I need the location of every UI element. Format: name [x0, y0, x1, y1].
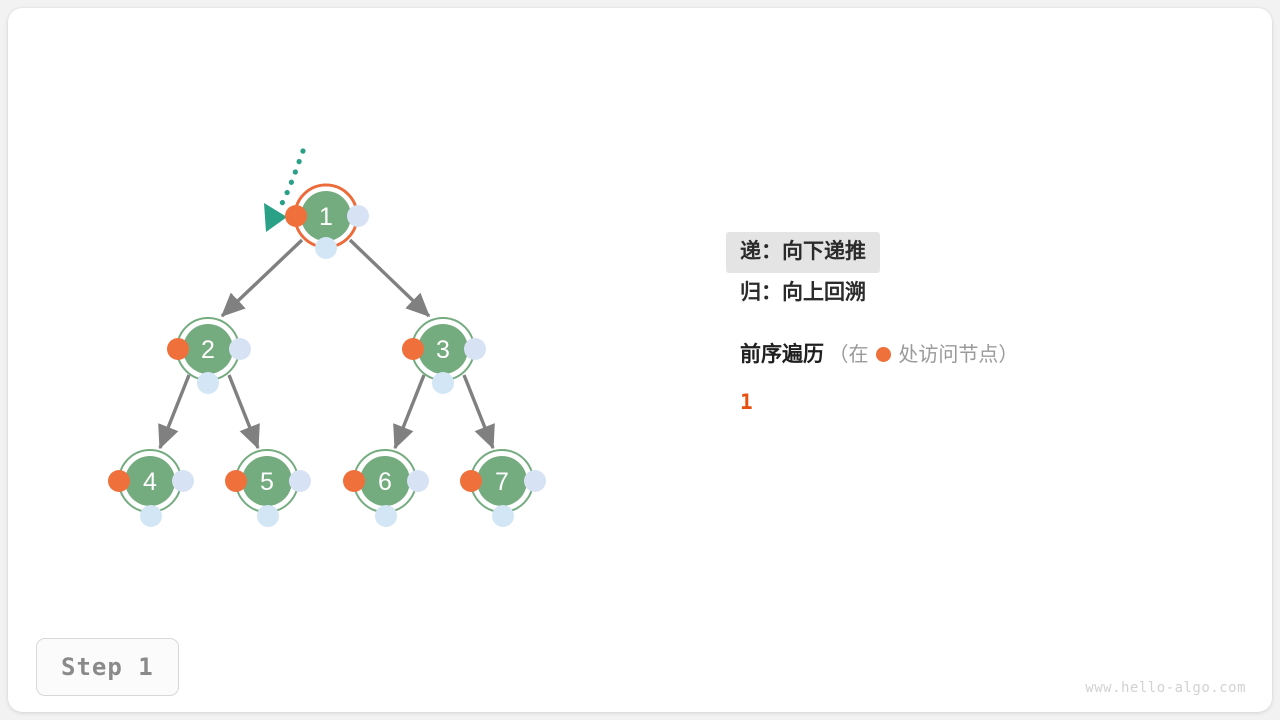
- tree-node-3[interactable]: 3: [402, 318, 486, 394]
- node-1-bottom-child-dot: [315, 237, 337, 259]
- node-2-bottom-child-dot: [197, 372, 219, 394]
- node-2-visit-dot: [167, 338, 189, 360]
- node-6-visit-dot: [343, 470, 365, 492]
- edge-2-4: [160, 375, 189, 448]
- legend-panel: 递：向下递推 归：向上回溯 前序遍历 （在 处访问节点） 1: [726, 232, 1246, 414]
- node-3-right-child-dot: [464, 338, 486, 360]
- node-2-label: 2: [201, 336, 215, 364]
- edge-3-6: [395, 375, 424, 448]
- node-3-bottom-child-dot: [432, 372, 454, 394]
- node-2-right-child-dot: [229, 338, 251, 360]
- edge-3-7: [464, 375, 493, 448]
- tree-node-2[interactable]: 2: [167, 318, 251, 394]
- node-7-right-child-dot: [524, 470, 546, 492]
- step-badge: Step 1: [36, 638, 179, 696]
- edge-1-2: [222, 240, 302, 316]
- edge-1-3: [350, 240, 429, 316]
- node-3-label: 3: [436, 336, 450, 364]
- node-3-visit-dot: [402, 338, 424, 360]
- legend-recursion-down-label: 递：向下递推: [726, 232, 880, 273]
- traversal-note-open-paren: （在: [828, 344, 868, 366]
- node-7-label: 7: [495, 468, 509, 496]
- legend-recursion-down-row: 递：向下递推: [726, 232, 1246, 273]
- tree-node-7[interactable]: 7: [460, 450, 546, 527]
- node-4-label: 4: [143, 468, 157, 496]
- tree-node-4[interactable]: 4: [108, 450, 194, 527]
- node-5-right-child-dot: [289, 470, 311, 492]
- node-1-visit-dot: [285, 205, 307, 227]
- diagram-canvas: 1 2 3 4: [8, 8, 1272, 712]
- node-6-bottom-child-dot: [375, 505, 397, 527]
- visit-marker-dot-icon: [876, 347, 891, 362]
- traversal-order-heading-row: 前序遍历 （在 处访问节点）: [726, 338, 1246, 368]
- traversal-note-close-text: 处访问节点）: [898, 344, 1018, 366]
- tree-node-6[interactable]: 6: [343, 450, 429, 527]
- legend-recursion-up-row: 归：向上回溯: [726, 273, 1246, 314]
- node-6-label: 6: [378, 468, 392, 496]
- node-5-visit-dot: [225, 470, 247, 492]
- node-7-bottom-child-dot: [492, 505, 514, 527]
- node-5-bottom-child-dot: [257, 505, 279, 527]
- node-5-label: 5: [260, 468, 274, 496]
- node-4-visit-dot: [108, 470, 130, 492]
- node-4-right-child-dot: [172, 470, 194, 492]
- tree-node-5[interactable]: 5: [225, 450, 311, 527]
- edge-2-5: [229, 375, 258, 448]
- node-4-bottom-child-dot: [140, 505, 162, 527]
- node-7-visit-dot: [460, 470, 482, 492]
- traversal-order-values: 1: [726, 390, 1246, 414]
- pointer-arrowhead-icon: [264, 203, 287, 232]
- traversal-order-title: 前序遍历: [740, 343, 824, 366]
- node-6-right-child-dot: [407, 470, 429, 492]
- node-1-label: 1: [319, 203, 333, 231]
- node-1-right-child-dot: [347, 205, 369, 227]
- legend-recursion-up-label: 归：向上回溯: [740, 281, 866, 304]
- site-watermark: www.hello-algo.com: [1085, 680, 1246, 696]
